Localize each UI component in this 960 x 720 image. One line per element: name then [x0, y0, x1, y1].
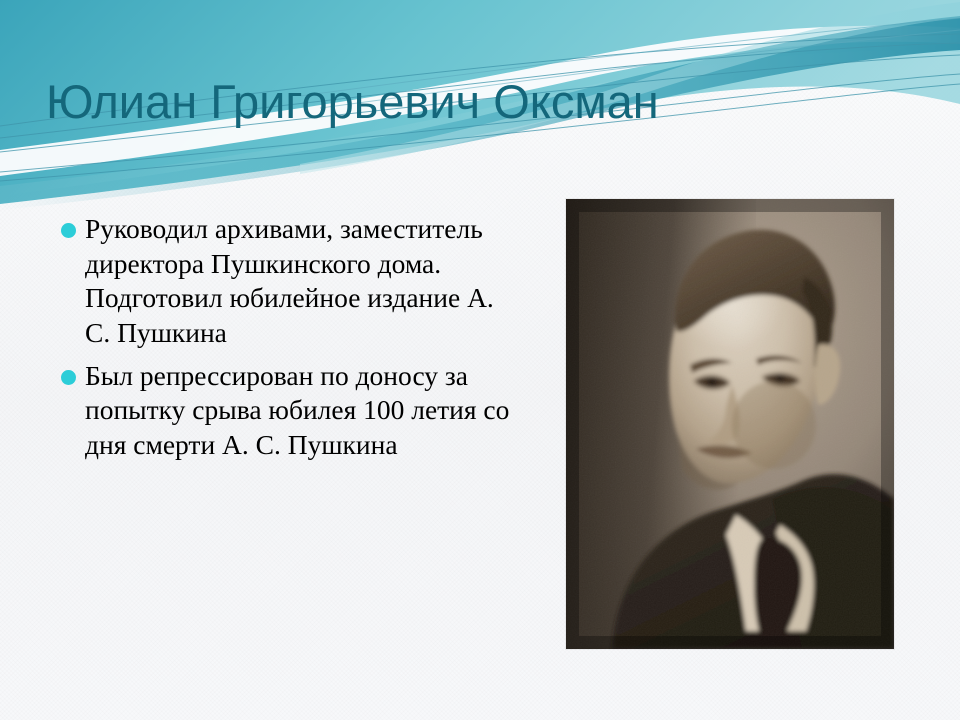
list-item: Руководил архивами, заместитель директор…	[52, 212, 522, 351]
list-item: Был репрессирован по доносу за попытку с…	[52, 359, 522, 463]
bullet-dot-icon	[61, 223, 76, 238]
list-item-text: Руководил архивами, заместитель директор…	[85, 213, 494, 348]
list-item-text: Был репрессирован по доносу за попытку с…	[85, 360, 509, 460]
portrait-photo	[566, 199, 894, 649]
slide-title: Юлиан Григорьевич Оксман	[46, 75, 746, 128]
bullet-dot-icon	[61, 370, 76, 385]
presentation-slide: Юлиан Григорьевич Оксман Руководил архив…	[0, 0, 960, 720]
bullet-list: Руководил архивами, заместитель директор…	[52, 212, 522, 470]
photo-sepia-wash	[566, 199, 894, 649]
